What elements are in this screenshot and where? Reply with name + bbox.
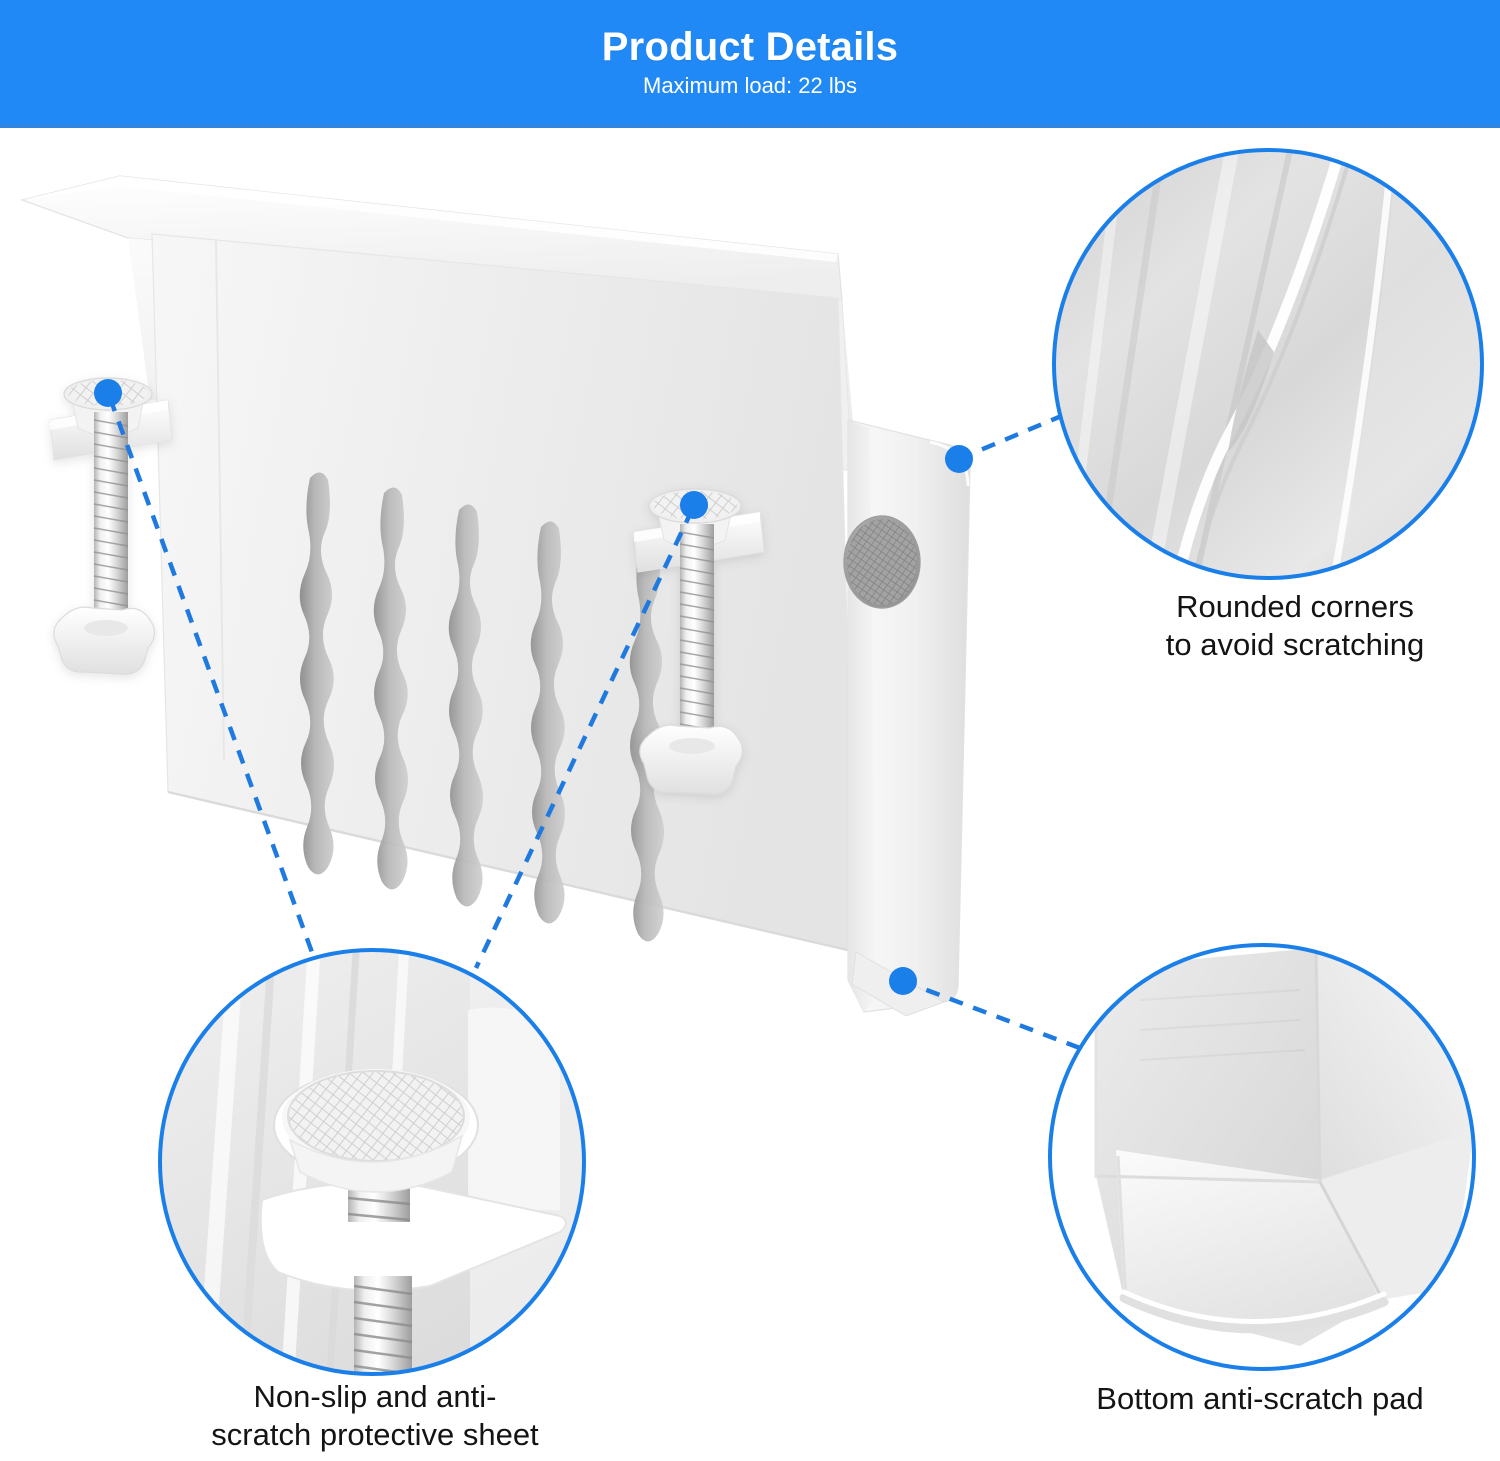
clamp-right-screw [680, 524, 714, 750]
product-side-panel-inner [848, 420, 876, 1012]
page-title: Product Details [602, 26, 898, 68]
callout-nonslip-sheet [160, 950, 584, 1386]
callout-ring-rounded-corners [1054, 150, 1482, 578]
vent-slot [531, 521, 565, 923]
clamp-right-threads [680, 532, 714, 742]
clamp-left-knob [54, 607, 155, 674]
product-bottom-fold [852, 952, 944, 1016]
caption-bottom-pad: Bottom anti-scratch pad [1035, 1380, 1485, 1418]
clamp-right-knob [640, 725, 743, 794]
callout-rounded-corners [1054, 150, 1482, 578]
clamp-left-pad [64, 378, 152, 410]
marker-dot-rounded-corner [945, 445, 973, 473]
side-anti-scratch-pad [844, 516, 920, 608]
marker-dot-clamp-left [94, 379, 122, 407]
product-front-panel [152, 234, 856, 952]
clamp-left-screw [94, 412, 128, 634]
leader-line-nonslip-left [110, 398, 317, 966]
clamp-left-threads [94, 420, 128, 630]
callout-ring-nonslip [160, 950, 584, 1374]
caption-nonslip-sheet: Non-slip and anti- scratch protective sh… [165, 1378, 585, 1454]
caption-line: Non-slip and anti- [165, 1378, 585, 1416]
clamp-right-pad [649, 489, 741, 523]
caption-line: scratch protective sheet [165, 1416, 585, 1454]
leader-line-bottom-pad [903, 981, 1085, 1050]
clamp-right [634, 489, 764, 794]
caption-line: Bottom anti-scratch pad [1035, 1380, 1485, 1418]
page-subtitle: Maximum load: 22 lbs [643, 74, 857, 98]
product-inner-wall [128, 238, 856, 455]
caption-line: Rounded corners [1095, 588, 1495, 626]
closeup-nonslip-pad [274, 1069, 478, 1192]
callout-leader-lines [110, 398, 1090, 1050]
vent-slot [449, 504, 483, 906]
marker-dot-clamp-right [680, 491, 708, 519]
header-banner: Product Details Maximum load: 22 lbs [0, 0, 1500, 128]
closeup-clamp-plate [261, 1183, 566, 1291]
clamp-left-cup [72, 398, 144, 436]
callout-bottom-pad [1050, 945, 1474, 1369]
caption-rounded-corners: Rounded corners to avoid scratching [1095, 588, 1495, 664]
illustration-stage [0, 0, 1500, 1461]
product-inner-fold [790, 294, 852, 470]
vent-slots [300, 472, 664, 941]
product-details-infographic: Product Details Maximum load: 22 lbs [0, 0, 1500, 1461]
product-illustration [22, 176, 970, 1016]
marker-dot-bottom-pad [889, 967, 917, 995]
product-side-panel [848, 420, 970, 1012]
vent-slot [630, 539, 664, 941]
vent-slot [374, 487, 408, 889]
caption-line: to avoid scratching [1095, 626, 1495, 664]
vent-slot [300, 472, 334, 874]
leader-line-nonslip-right [476, 510, 692, 968]
clamp-left [50, 378, 172, 674]
clamp-right-cup [658, 510, 732, 548]
clamp-left-bracket [50, 400, 172, 460]
leader-line-rounded-corners [959, 404, 1090, 459]
product-top-lip [22, 176, 842, 300]
clamp-right-bracket [634, 512, 764, 572]
callout-ring-bottom-pad [1050, 945, 1474, 1369]
callout-markers [94, 379, 973, 995]
